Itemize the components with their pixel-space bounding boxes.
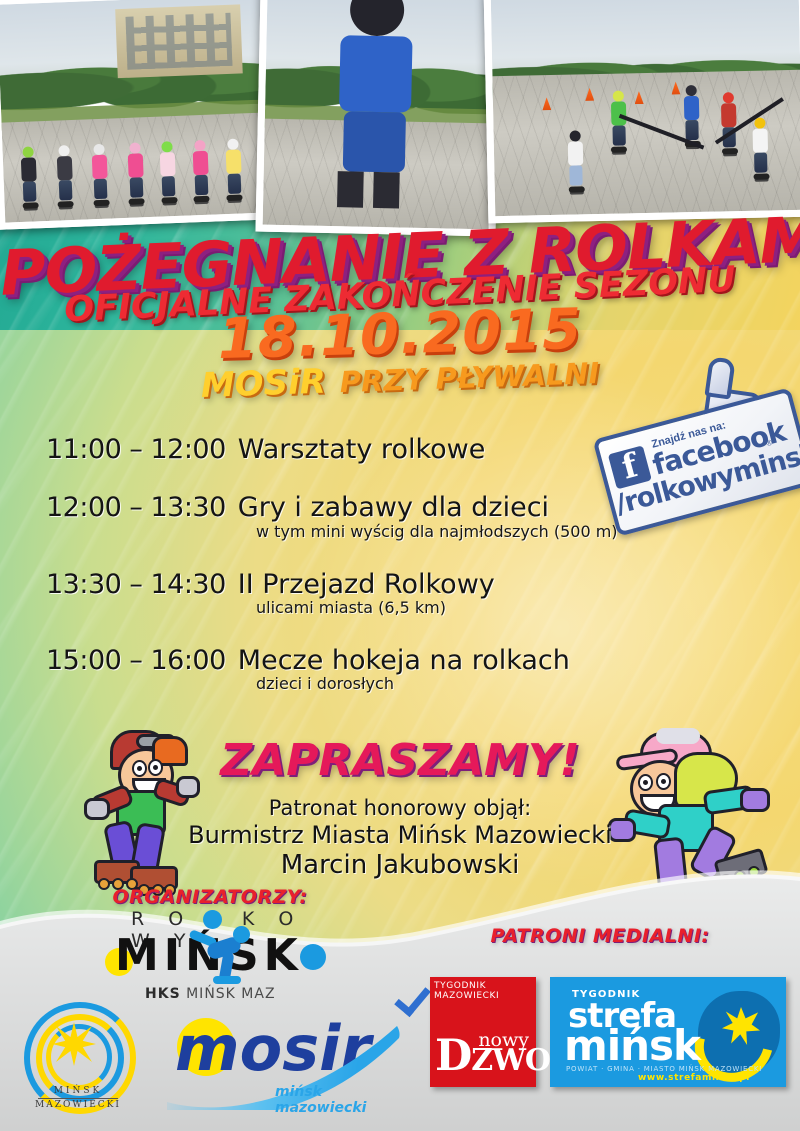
logo-nowy-dzwon: TYGODNIK MAZOWIECKI nowy DZWON xyxy=(430,977,536,1087)
schedule-title: Gry i zabawy dla dzieci xyxy=(238,492,549,523)
crest-divider xyxy=(38,1098,118,1099)
schedule-list: 11:00 – 12:00Warsztaty rolkowe 12:00 – 1… xyxy=(46,436,746,723)
schedule-title: II Przejazd Rolkowy xyxy=(238,569,495,600)
schedule-item: 12:00 – 13:30Gry i zabawy dla dzieci w t… xyxy=(46,494,746,540)
schedule-time: 11:00 – 12:00 xyxy=(46,434,226,465)
invitation-call: ZAPRASZAMY! xyxy=(0,735,800,786)
photo-roller-hockey-game xyxy=(484,0,800,223)
photo-strip xyxy=(0,0,800,238)
crest-line-1: MIŃSK xyxy=(22,1086,134,1096)
logo-minsk-mazowiecki-crest: MIŃSK MAZOWIECKI xyxy=(22,1000,134,1118)
blue-check-icon xyxy=(396,984,430,1018)
schedule-note: w tym mini wyścig dla najmłodszych (500 … xyxy=(256,522,746,541)
hks-bold: HKS xyxy=(145,986,181,1002)
strefa-website-label: www.strefaminsk.pl xyxy=(638,1073,750,1083)
schedule-note: ulicami miasta (6,5 km) xyxy=(256,598,746,617)
schedule-item: 15:00 – 16:00Mecze hokeja na rolkach dzi… xyxy=(46,647,746,693)
skater-silhouette-icon xyxy=(187,924,273,990)
organizers-heading: ORGANIZATORZY: xyxy=(0,886,420,908)
logo-hks-tagline: HKS MIŃSK MAZ xyxy=(145,986,276,1002)
logo-mosir-sub: mińsk mazowiecki xyxy=(275,1084,400,1116)
media-partners-heading: PATRONI MEDIALNI: xyxy=(400,925,800,947)
strefa-region-label: POWIAT · GMINA · MIASTO MIŃSK MAZOWIECKI xyxy=(566,1065,762,1073)
schedule-title: Warsztaty rolkowe xyxy=(238,434,486,465)
event-poster: POŻEGNANIE Z ROLKAMI OFICJALNE ZAKOŃCZEN… xyxy=(0,0,800,1131)
hks-rest: MIŃSK MAZ xyxy=(181,986,276,1002)
photo-boy-in-blue-shirt-skating xyxy=(255,0,500,236)
crest-line-2: MAZOWIECKI xyxy=(22,1100,134,1110)
schedule-note: dzieci i dorosłych xyxy=(256,674,746,693)
venue-secondary: PRZY PŁYWALNI xyxy=(339,356,600,399)
invitation-block: ZAPRASZAMY! Patronat honorowy objął: Bur… xyxy=(0,735,800,880)
schedule-title: Mecze hokeja na rolkach xyxy=(238,645,570,676)
star-icon xyxy=(52,1022,96,1066)
dzwon-top-label: TYGODNIK MAZOWIECKI xyxy=(434,981,536,1001)
schedule-time: 15:00 – 16:00 xyxy=(46,645,226,676)
schedule-time: 12:00 – 13:30 xyxy=(46,492,226,523)
schedule-time: 13:30 – 14:30 xyxy=(46,569,226,600)
logo-mosir: mosir mińsk mazowiecki xyxy=(165,1012,400,1117)
logo-rolkowy-minsk: R O L K O W Y MIŃSK HKS MIŃSK MAZ xyxy=(95,908,345,1008)
strefa-minsk-wordmark: mińsk xyxy=(564,1025,700,1067)
venue-primary: MOSiR xyxy=(200,362,326,406)
logo-strefa-minsk: TYGODNIK strefa mińsk POWIAT · GMINA · M… xyxy=(550,977,786,1087)
dzwon-cap: D xyxy=(435,1031,471,1081)
schedule-item: 11:00 – 12:00Warsztaty rolkowe xyxy=(46,436,746,464)
patron-title: Burmistrz Miasta Mińsk Mazowiecki xyxy=(0,821,800,849)
schedule-item: 13:30 – 14:30II Przejazd Rolkowy ulicami… xyxy=(46,571,746,617)
patron-intro: Patronat honorowy objął: xyxy=(0,796,800,820)
